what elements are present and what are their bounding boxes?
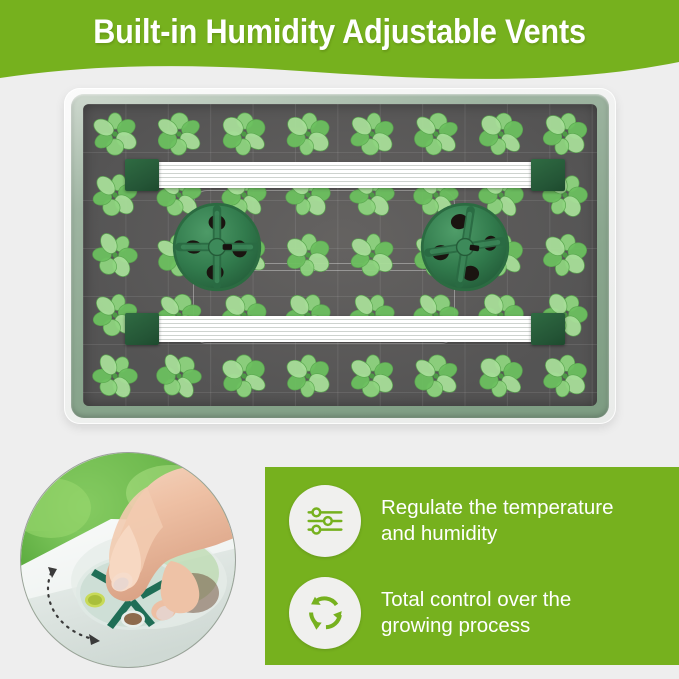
- photo-content: [21, 453, 236, 668]
- feature-text-regulate: Regulate the temperature and humidity: [381, 495, 613, 547]
- feature-line-2: growing process: [381, 613, 571, 639]
- top-slider-cap-right: [531, 159, 565, 191]
- top-slider-cap-left: [125, 159, 159, 191]
- top-slider-track: [155, 162, 535, 188]
- seedling: [281, 352, 335, 400]
- hand-adjusting-vent-photo: [20, 452, 236, 668]
- left-adjustable-vent[interactable]: [170, 200, 264, 294]
- product-tray-image: [64, 88, 616, 424]
- photo-circle-frame: [20, 452, 236, 668]
- seedling: [88, 231, 142, 279]
- seedling: [409, 110, 463, 158]
- tray-cell-area: [83, 104, 597, 406]
- recycle-arrows-icon: [289, 577, 361, 649]
- recycle-arrows-icon-glyph: [302, 590, 348, 636]
- seedling: [474, 352, 528, 400]
- feature-item-regulate: Regulate the temperature and humidity: [289, 485, 613, 557]
- left-vent-icon: [170, 200, 264, 294]
- seedling: [409, 352, 463, 400]
- right-vent-icon: [418, 200, 512, 294]
- header-banner: Built-in Humidity Adjustable Vents: [0, 0, 679, 84]
- seedling: [345, 231, 399, 279]
- seedling: [281, 110, 335, 158]
- seedling: [538, 110, 592, 158]
- seedling: [88, 352, 142, 400]
- seedling: [281, 231, 335, 279]
- seedling-layer: [83, 104, 597, 406]
- right-adjustable-vent[interactable]: [418, 200, 512, 294]
- page-title: Built-in Humidity Adjustable Vents: [34, 13, 645, 52]
- top-slider-vent[interactable]: [155, 162, 535, 188]
- seedling: [474, 110, 528, 158]
- seedling: [152, 352, 206, 400]
- seedling: [345, 110, 399, 158]
- seedling: [538, 352, 592, 400]
- feature-item-control: Total control over the growing process: [289, 577, 571, 649]
- sliders-icon-glyph: [302, 498, 348, 544]
- feature-text-control: Total control over the growing process: [381, 587, 571, 639]
- feature-line-2: and humidity: [381, 521, 613, 547]
- bottom-slider-cap-right: [531, 313, 565, 345]
- seedling: [217, 352, 271, 400]
- sliders-icon: [289, 485, 361, 557]
- feature-line-1: Total control over the: [381, 587, 571, 613]
- seedling: [538, 231, 592, 279]
- seedling: [88, 110, 142, 158]
- seedling: [345, 352, 399, 400]
- infographic-page: Built-in Humidity Adjustable Vents: [0, 0, 679, 679]
- bottom-slider-cap-left: [125, 313, 159, 345]
- bottom-slider-vent[interactable]: [155, 316, 535, 342]
- features-panel: Regulate the temperature and humidity: [265, 467, 679, 665]
- bottom-slider-track: [155, 316, 535, 342]
- seedling: [152, 110, 206, 158]
- feature-line-1: Regulate the temperature: [381, 495, 613, 521]
- seedling: [217, 110, 271, 158]
